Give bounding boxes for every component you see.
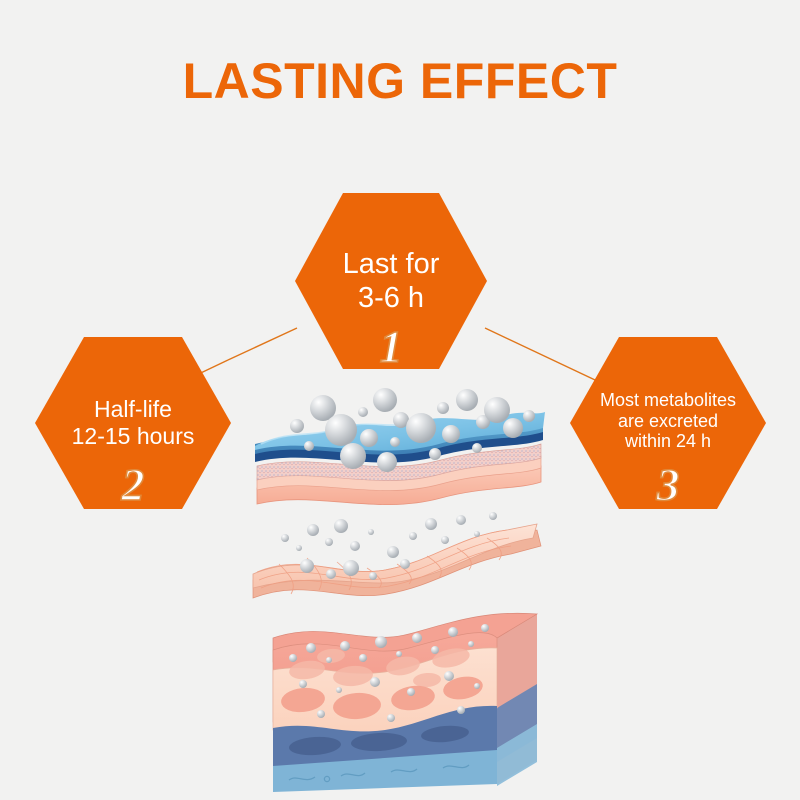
hexagon-label-1: Last for 3-6 h [343, 248, 440, 315]
hexagon-step-2[interactable]: Half-life 12-15 hours [35, 337, 231, 509]
hexagon-label-3: Most metabolites are excreted within 24 … [600, 390, 736, 453]
collagen-mesh-sheet [253, 524, 541, 598]
connector-line-1-to-2 [228, 328, 297, 360]
hexagon-label-2: Half-life 12-15 hours [72, 396, 195, 449]
dermis-block [273, 613, 537, 792]
infographic-canvas: LASTING EFFECT [0, 0, 800, 800]
skin-layers-illustration [245, 370, 565, 800]
hexagon-step-1[interactable]: Last for 3-6 h [295, 193, 487, 369]
hexagon-step-3[interactable]: Most metabolites are excreted within 24 … [570, 337, 766, 509]
page-title: LASTING EFFECT [0, 52, 800, 110]
